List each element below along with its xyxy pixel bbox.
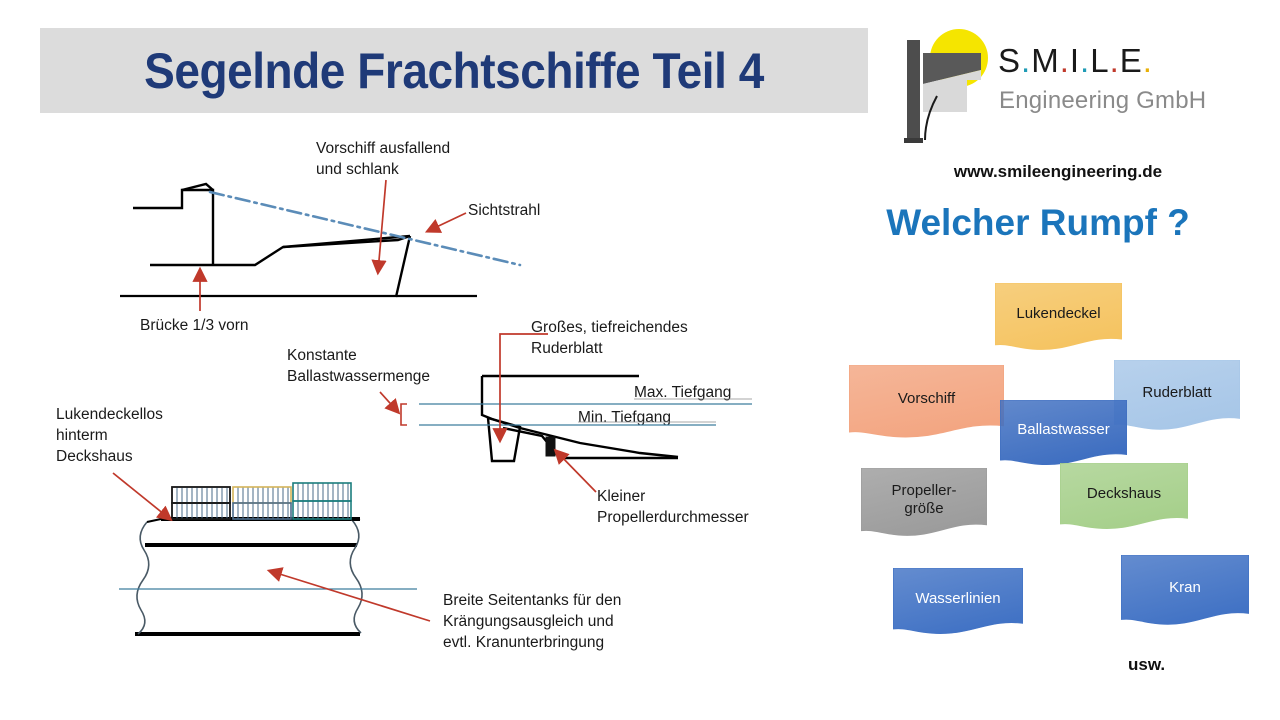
hull-feature-shape[interactable]: Ballastwasser — [1000, 400, 1127, 470]
smile-logo-text: S.M.I.L.E. — [998, 42, 1153, 80]
arrow-vorschiff — [378, 180, 386, 272]
hull-feature-shape[interactable]: Lukendeckel — [995, 283, 1122, 355]
hull-feature-shape[interactable]: Propeller- größe — [861, 468, 987, 541]
label-seitentanks: Breite Seitentanks für den Krängungsausg… — [443, 591, 621, 654]
website-url: www.smileengineering.de — [918, 162, 1198, 182]
hull-feature-shape[interactable]: Kran — [1121, 555, 1249, 630]
propeller-shape — [546, 437, 555, 456]
label-max-tiefgang: Max. Tiefgang — [634, 383, 731, 404]
arrow-sichtstrahl — [428, 213, 466, 231]
container-stack-1 — [172, 487, 230, 519]
arrow-propeller — [556, 451, 596, 492]
hull-feature-shape[interactable]: Vorschiff — [849, 365, 1004, 443]
page-title: Segelnde Frachtschiffe Teil 4 — [73, 28, 835, 113]
label-min-tiefgang: Min. Tiefgang — [578, 408, 671, 429]
smile-logo: S.M.I.L.E. Engineering GmbH — [893, 28, 1213, 143]
label-vorschiff-ausfallend: Vorschiff ausfallend und schlank — [316, 139, 450, 181]
label-ballastwassermenge: Konstante Ballastwassermenge — [287, 346, 430, 388]
label-bruecke: Brücke 1/3 vorn — [140, 316, 249, 337]
hull-feature-shape[interactable]: Deckshaus — [1060, 463, 1188, 534]
label-propellerdurchmesser: Kleiner Propellerdurchmesser — [597, 487, 749, 529]
label-sichtstrahl: Sichtstrahl — [468, 201, 540, 222]
hull-feature-shape[interactable]: Wasserlinien — [893, 568, 1023, 639]
hull-feature-shape[interactable]: Ruderblatt — [1114, 360, 1240, 435]
etc-label: usw. — [1128, 655, 1165, 675]
smile-logo-wordmark: S.M.I.L.E. Engineering GmbH — [998, 42, 1213, 142]
hull-feature-shape-label: Wasserlinien — [915, 590, 1000, 617]
smile-logo-subtitle: Engineering GmbH — [999, 87, 1206, 115]
container-stack-2 — [233, 487, 291, 519]
hull-feature-shape-label: Ballastwasser — [1017, 421, 1110, 448]
hull-feature-shape-label: Ruderblatt — [1142, 384, 1211, 411]
label-lukendeckellos: Lukendeckellos hinterm Deckshaus — [56, 405, 163, 468]
ballast-bracket — [401, 404, 407, 425]
slide-root: Segelnde Frachtschiffe Teil 4 S.M.I.L.E.… — [0, 0, 1280, 720]
arrow-ballast — [380, 392, 398, 412]
hull-feature-shape-label: Kran — [1169, 579, 1201, 606]
ship-profile-drawing — [120, 184, 477, 297]
hull-feature-shape-label: Deckshaus — [1087, 485, 1161, 512]
label-ruderblatt: Großes, tiefreichendes Ruderblatt — [531, 318, 688, 360]
arrow-seitentanks — [270, 571, 430, 621]
midship-section-drawing — [135, 519, 362, 634]
right-panel-heading: Welcher Rumpf ? — [868, 202, 1208, 244]
smile-logo-mark-icon — [893, 28, 1003, 143]
container-stack-3 — [293, 483, 351, 519]
hull-feature-shape-label: Vorschiff — [898, 390, 955, 417]
hull-feature-shape-label: Propeller- größe — [891, 482, 956, 527]
arrow-lukendeckellos — [113, 473, 170, 519]
hull-feature-shape-label: Lukendeckel — [1016, 305, 1100, 332]
